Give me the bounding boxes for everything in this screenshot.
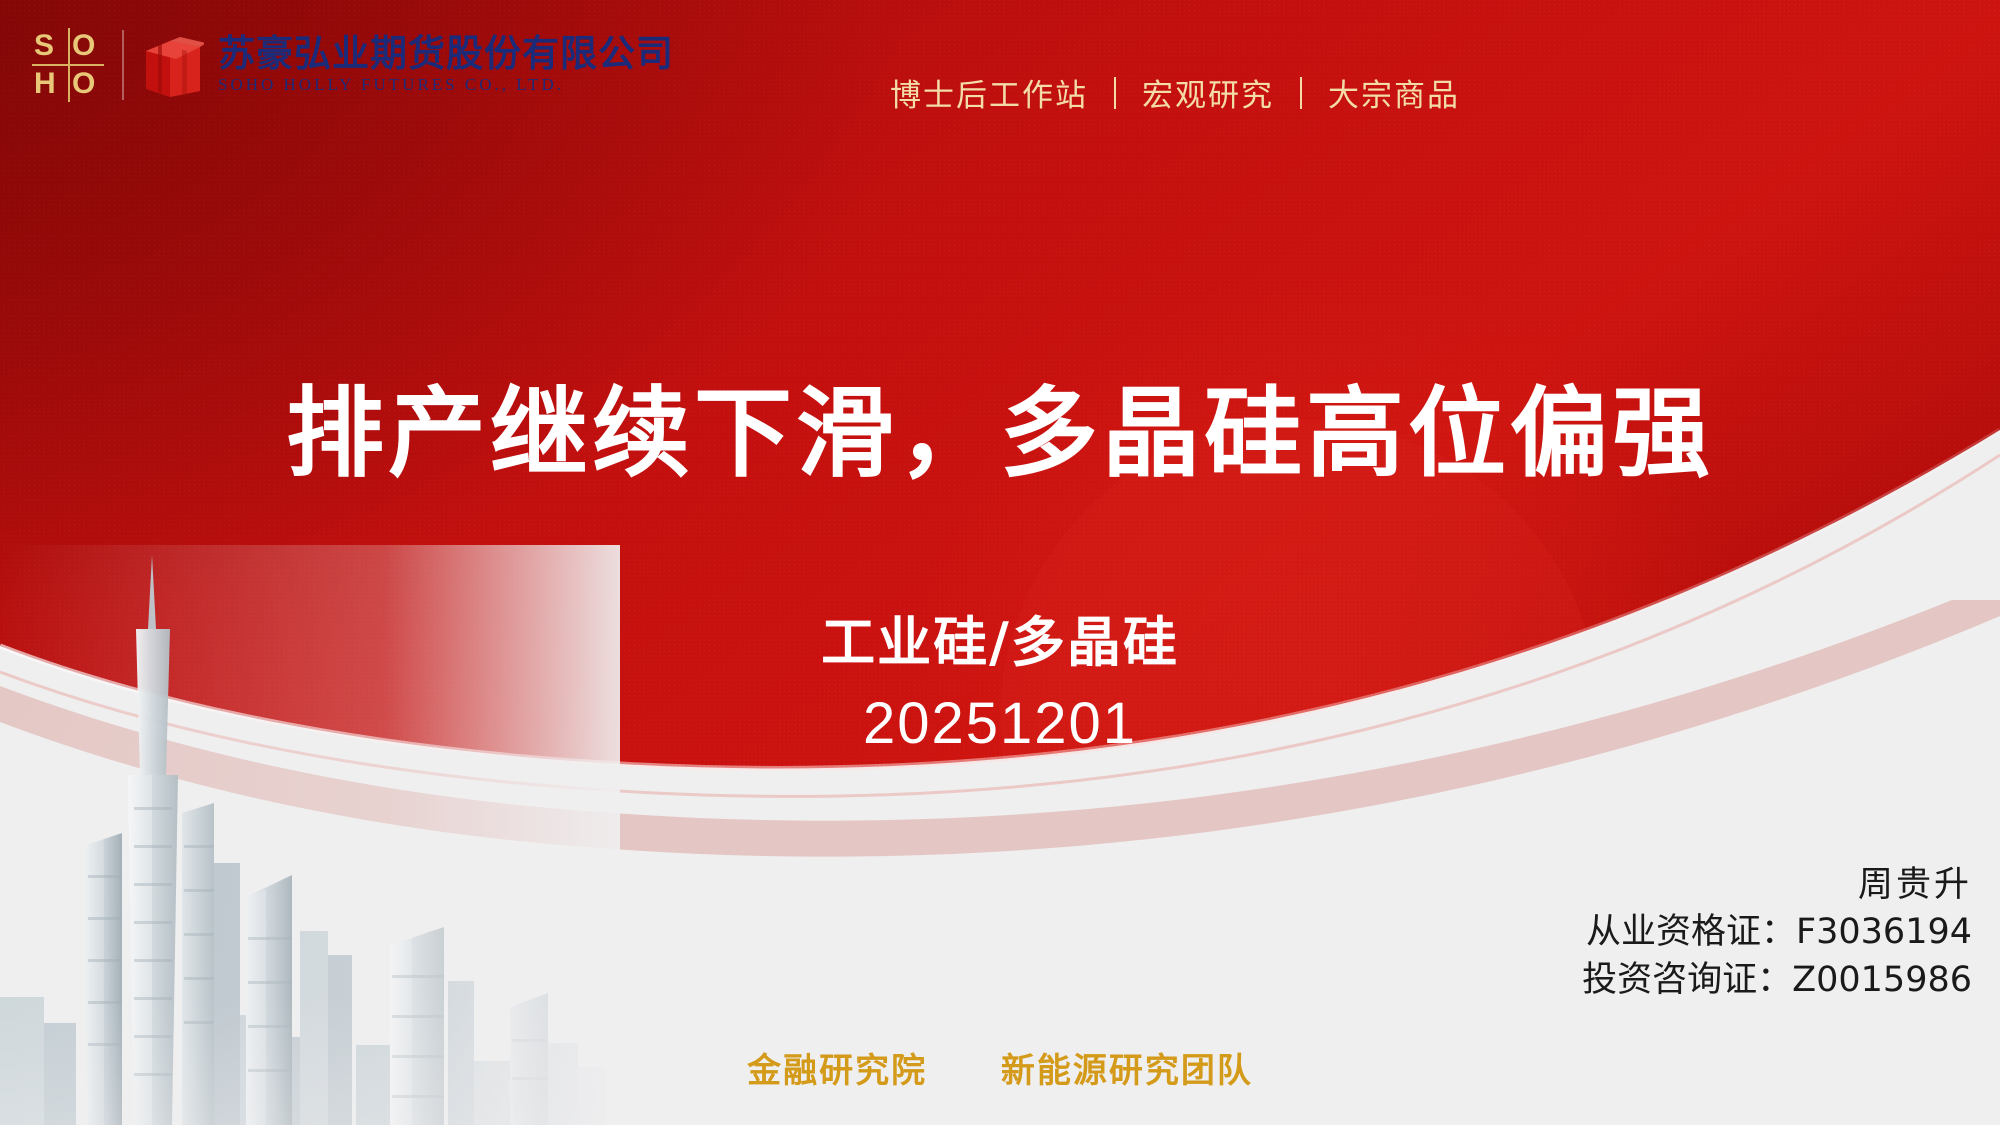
gift-box-icon (142, 29, 204, 101)
footer-institute: 金融研究院 (747, 1051, 927, 1091)
city-skyline-illustration (0, 545, 620, 1125)
nav-item-macro-research[interactable]: 宏观研究 (1142, 70, 1274, 115)
author-consulting-license: 投资咨询证：Z0015986 (1582, 957, 1972, 1004)
logo-divider (122, 30, 124, 100)
nav-item-postdoc-station[interactable]: 博士后工作站 (890, 70, 1088, 115)
slide-header: S O H O 苏豪弘业期货股份有限公司 SOHO HOLLY FUTURE (0, 0, 2000, 140)
header-nav: 博士后工作站 宏观研究 大宗商品 (890, 70, 1460, 115)
nav-separator-1 (1114, 77, 1116, 109)
monogram-letter-s-top: S (34, 30, 54, 62)
monogram-letter-o-top: O (72, 30, 95, 62)
company-name-block: 苏豪弘业期货股份有限公司 SOHO HOLLY FUTURES CO., LTD… (218, 35, 674, 96)
company-name-cn: 苏豪弘业期货股份有限公司 (218, 35, 674, 74)
slide-title: 排产继续下滑，多晶硅高位偏强 (0, 378, 2000, 491)
author-name: 周贵升 (1582, 862, 1972, 909)
monogram-horizontal-rule (32, 64, 104, 66)
nav-separator-2 (1300, 77, 1302, 109)
company-name-en: SOHO HOLLY FUTURES CO., LTD. (218, 75, 674, 95)
slide-footer: 金融研究院 新能源研究团队 (0, 1043, 2000, 1092)
author-credentials: 周贵升 从业资格证：F3036194 投资咨询证：Z0015986 (1582, 862, 1972, 1004)
monogram-letter-o-bottom: O (72, 68, 95, 100)
company-logo[interactable]: S O H O 苏豪弘业期货股份有限公司 SOHO HOLLY FUTURE (32, 22, 674, 108)
footer-team: 新能源研究团队 (1001, 1051, 1253, 1091)
monogram-letter-h-bottom: H (34, 68, 55, 100)
author-practice-license: 从业资格证：F3036194 (1582, 909, 1972, 956)
soho-monogram-icon: S O H O (32, 28, 104, 102)
nav-item-commodities[interactable]: 大宗商品 (1328, 70, 1460, 115)
presentation-title-slide: S O H O 苏豪弘业期货股份有限公司 SOHO HOLLY FUTURE (0, 0, 2000, 1125)
